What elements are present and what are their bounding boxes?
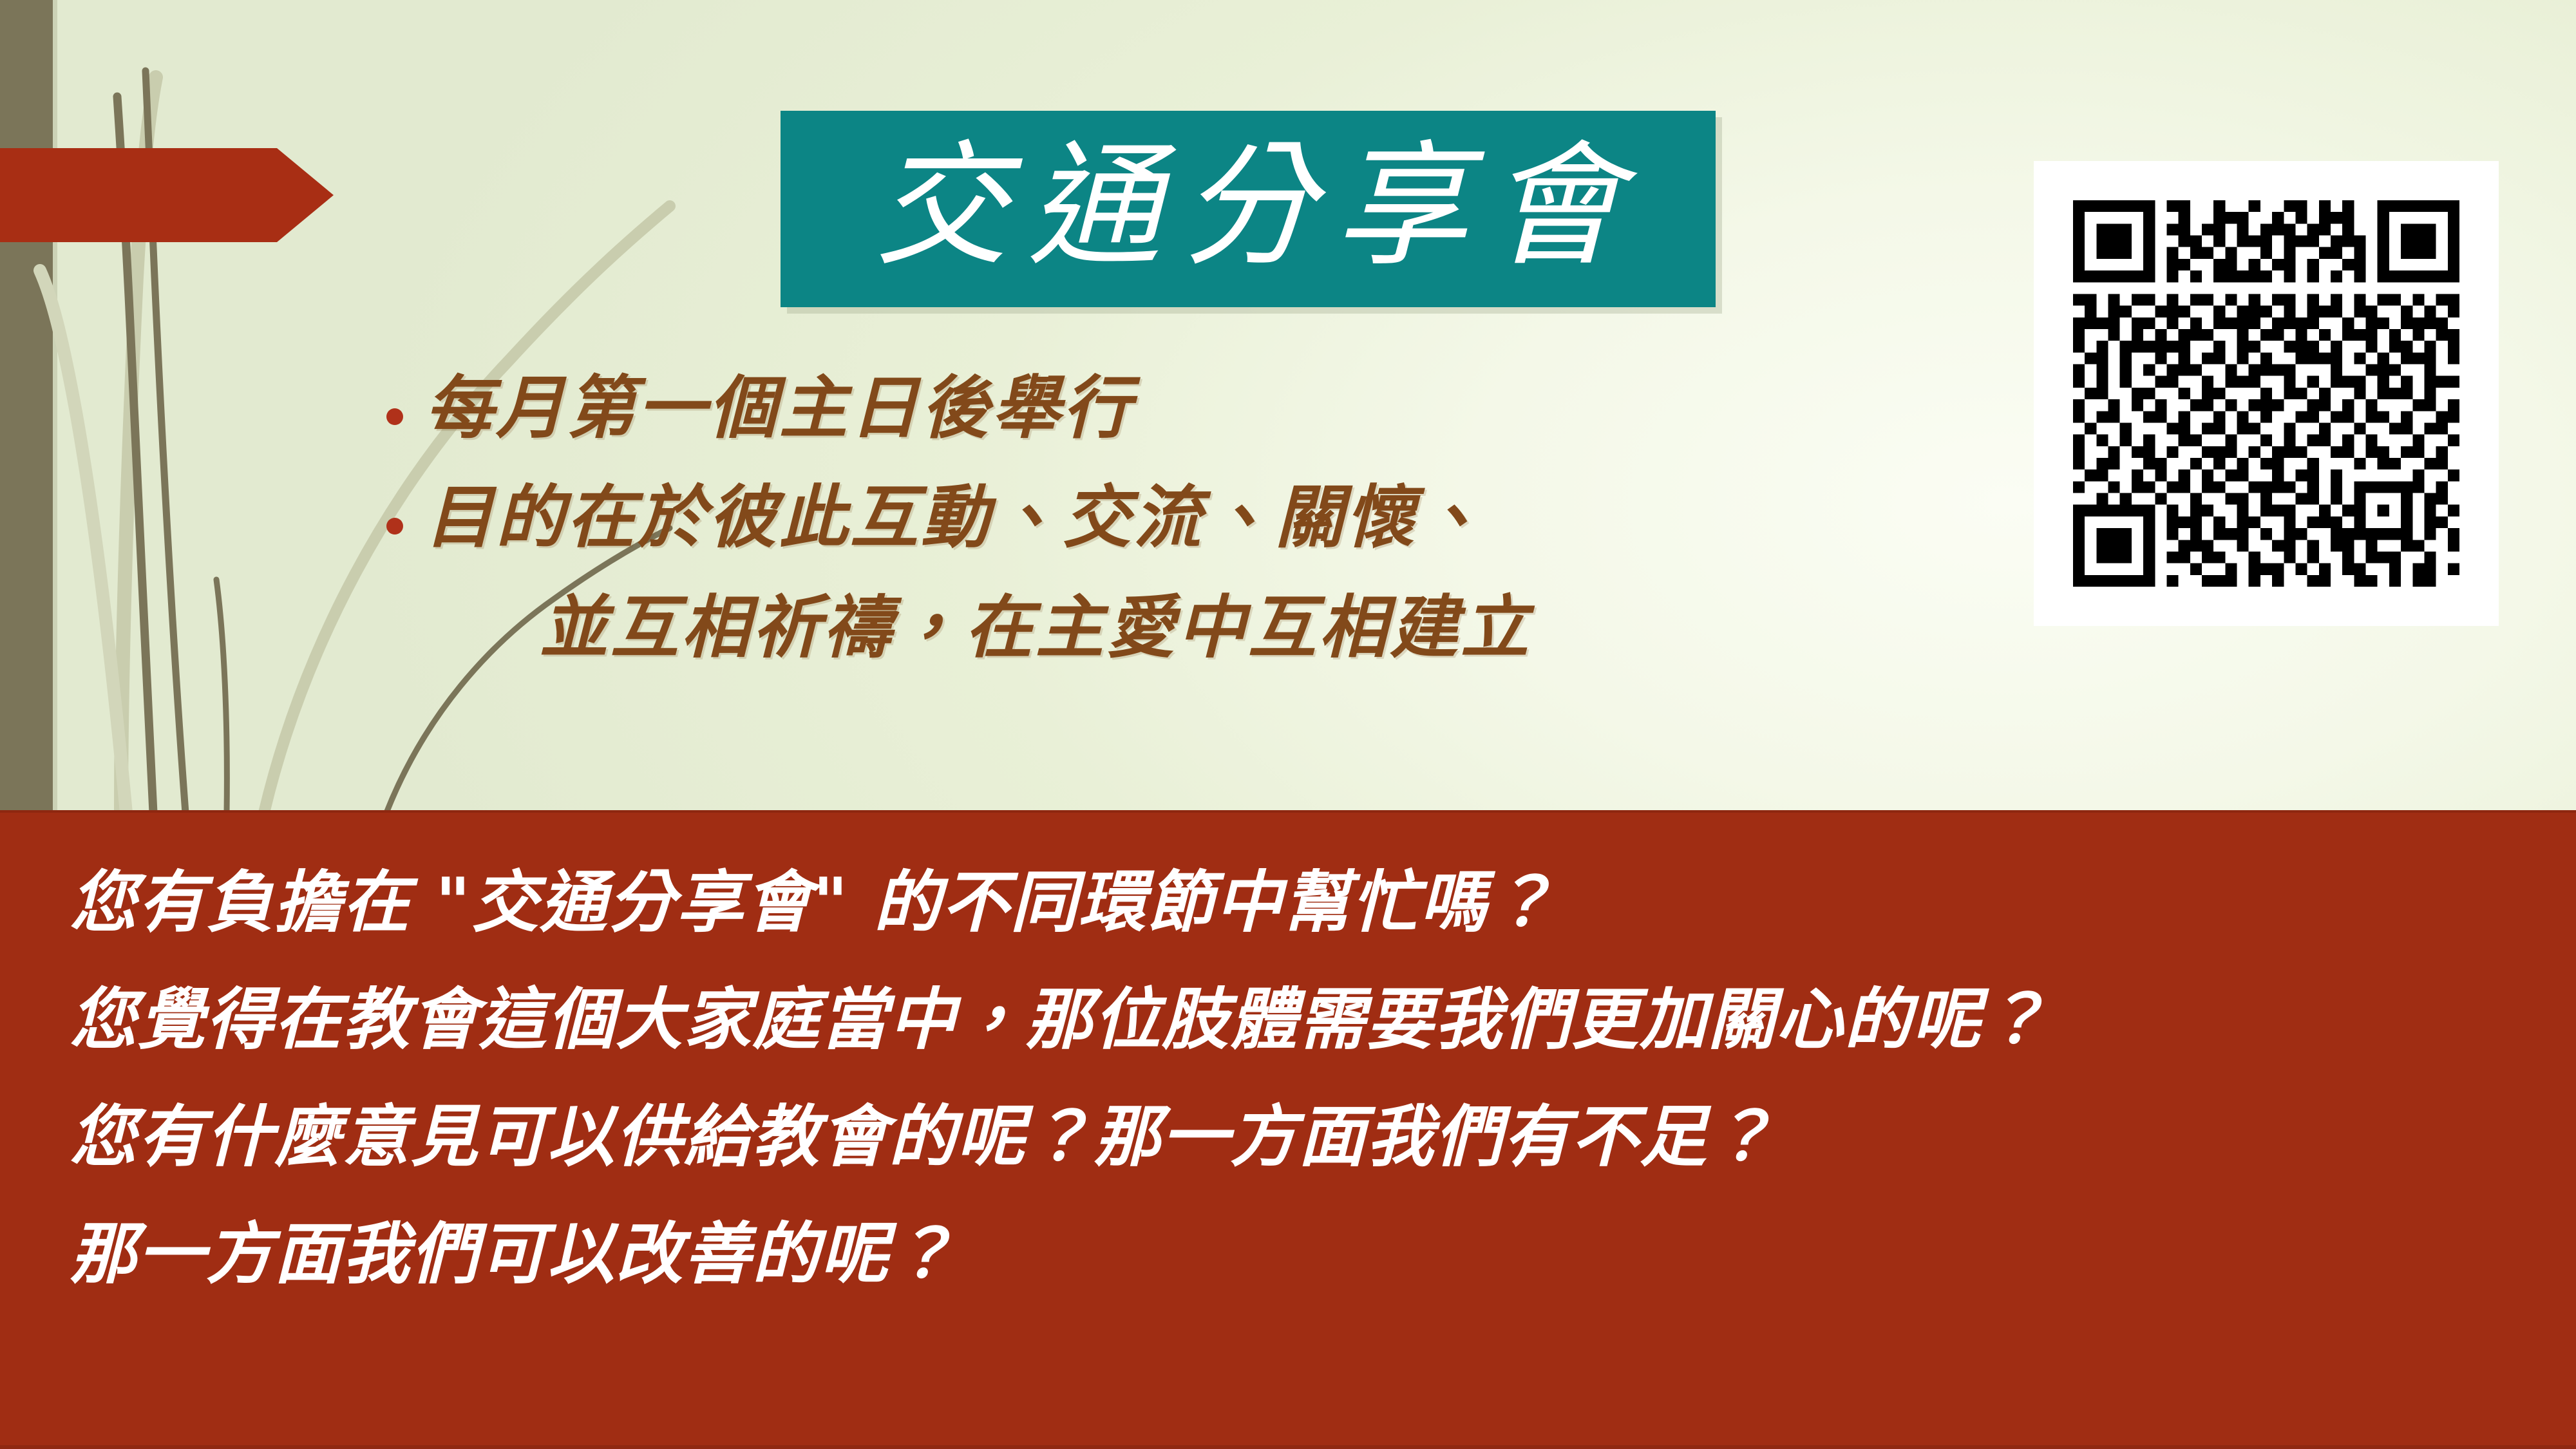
question-line: 您有什麼意見可以供給教會的呢？那一方面我們有不足？ xyxy=(70,1078,2550,1195)
right-arrow-banner-icon xyxy=(0,148,334,242)
bullet-dot-icon xyxy=(386,518,403,535)
presentation-slide: 交通分享會 xyxy=(0,0,2576,1449)
bullet-continuation-text: 並互相祈禱，在主愛中互相建立 xyxy=(540,580,2009,674)
bullet-text: 目的在於彼此互動、交流、關懷、 xyxy=(425,470,1488,564)
question-list: 您有負擔在 "交通分享會" 的不同環節中幫忙嗎？ 您覺得在教會這個大家庭當中，那… xyxy=(70,844,2550,1312)
bullet-list: 每月第一個主日後舉行 目的在於彼此互動、交流、關懷、 並互相祈禱，在主愛中互相建… xyxy=(386,361,2009,674)
title-plate: 交通分享會 xyxy=(781,111,1716,307)
page-title: 交通分享會 xyxy=(781,139,1716,273)
question-line: 那一方面我們可以改善的呢？ xyxy=(70,1195,2550,1312)
bullet-text: 每月第一個主日後舉行 xyxy=(425,361,1133,455)
question-panel: 您有負擔在 "交通分享會" 的不同環節中幫忙嗎？ 您覺得在教會這個大家庭當中，那… xyxy=(0,810,2576,1449)
left-accent-band-highlight xyxy=(53,0,57,810)
list-item: 目的在於彼此互動、交流、關懷、 並互相祈禱，在主愛中互相建立 xyxy=(386,470,2009,674)
qr-code-icon xyxy=(2073,200,2459,587)
left-accent-band xyxy=(0,0,53,810)
question-line: 您有負擔在 "交通分享會" 的不同環節中幫忙嗎？ xyxy=(70,844,2550,961)
list-item: 每月第一個主日後舉行 xyxy=(386,361,2009,455)
question-line: 您覺得在教會這個大家庭當中，那位肢體需要我們更加關心的呢？ xyxy=(70,961,2550,1078)
qr-code-card xyxy=(2034,161,2499,626)
bullet-dot-icon xyxy=(386,408,403,425)
